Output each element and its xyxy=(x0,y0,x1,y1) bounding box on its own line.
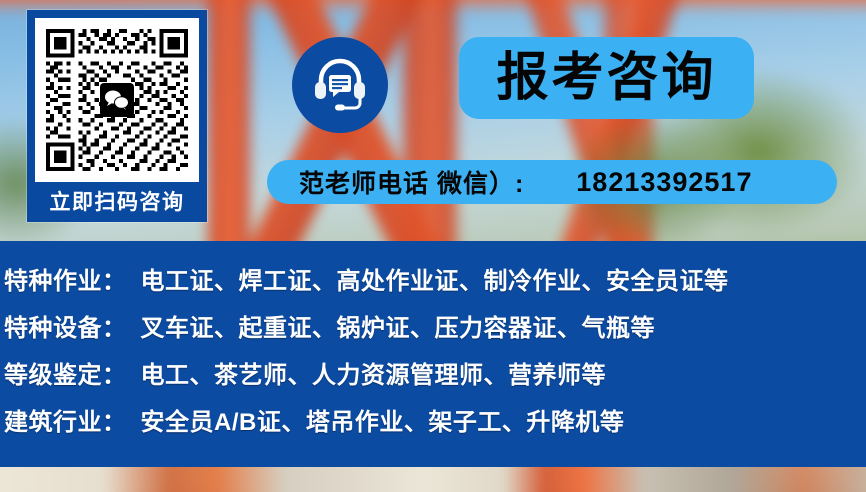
info-row-value: 叉车证、起重证、锅炉证、压力容器证、气瓶等 xyxy=(141,308,656,343)
qr-caption: 立即扫码咨询 xyxy=(50,187,185,219)
promo-banner: 立即扫码咨询 报考咨询 范老师电话 微信）: 18213392517 xyxy=(0,0,866,492)
info-row-value: 安全员A/B证、塔吊作业、架子工、升降机等 xyxy=(141,402,625,437)
consultation-title-text: 报考咨询 xyxy=(496,52,716,104)
info-row-label: 建筑行业： xyxy=(4,402,127,437)
qr-code-icon[interactable] xyxy=(35,18,199,182)
qr-code-card[interactable]: 立即扫码咨询 xyxy=(27,10,207,222)
info-row-label: 特种作业： xyxy=(4,261,127,296)
info-row-value: 电工、茶艺师、人力资源管理师、营养师等 xyxy=(141,355,607,390)
info-row-label: 特种设备： xyxy=(4,308,127,343)
contact-label: 范老师电话 微信）: xyxy=(299,164,524,200)
info-row-construction-industry: 建筑行业： 安全员A/B证、塔吊作业、架子工、升降机等 xyxy=(0,402,866,449)
wechat-icon xyxy=(100,83,134,117)
info-row-value: 电工证、焊工证、高处作业证、制冷作业、安全员证等 xyxy=(141,261,729,296)
wechat-glyph xyxy=(104,89,130,111)
info-row-special-equipment: 特种设备： 叉车证、起重证、锅炉证、压力容器证、气瓶等 xyxy=(0,308,866,355)
headset-glyph xyxy=(311,58,369,112)
certification-list-panel: 特种作业： 电工证、焊工证、高处作业证、制冷作业、安全员证等 特种设备： 叉车证… xyxy=(0,241,866,467)
headset-support-icon xyxy=(292,37,388,133)
contact-phone-number[interactable]: 18213392517 xyxy=(576,167,752,198)
contact-phone-pill[interactable]: 范老师电话 微信）: 18213392517 xyxy=(267,160,837,204)
info-row-special-operations: 特种作业： 电工证、焊工证、高处作业证、制冷作业、安全员证等 xyxy=(0,261,866,308)
info-row-grade-appraisal: 等级鉴定： 电工、茶艺师、人力资源管理师、营养师等 xyxy=(0,355,866,402)
info-row-label: 等级鉴定： xyxy=(4,355,127,390)
consultation-title-pill[interactable]: 报考咨询 xyxy=(459,37,754,119)
